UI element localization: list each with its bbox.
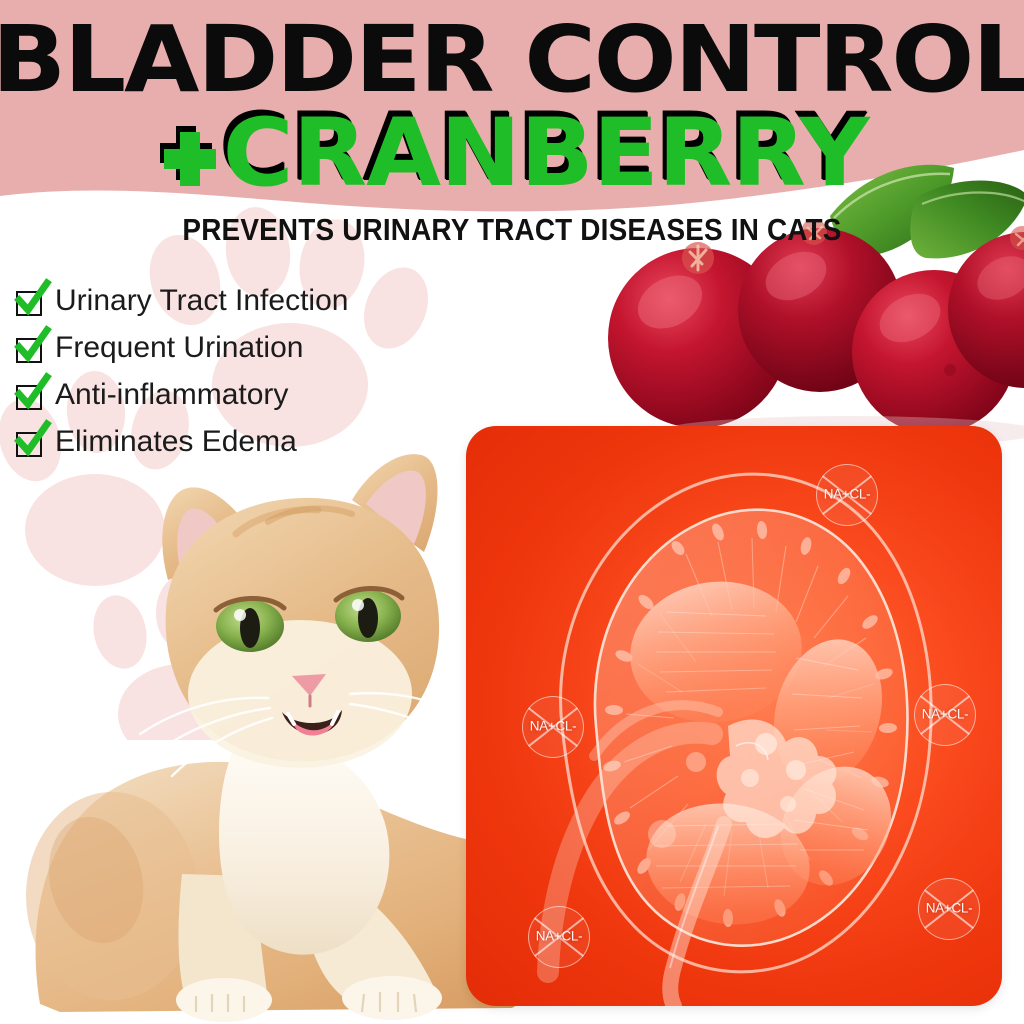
benefit-label: Anti-inflammatory bbox=[55, 378, 288, 412]
list-item: Urinary Tract Infection bbox=[14, 278, 434, 324]
checkmark-icon bbox=[14, 380, 44, 410]
benefit-label: Eliminates Edema bbox=[55, 425, 297, 459]
na-cl-badge-label: NA+CL- bbox=[523, 719, 583, 734]
na-cl-badge-label: NA+CL- bbox=[529, 929, 589, 944]
cranberry-cluster-icon bbox=[598, 120, 1024, 450]
kidney-cross-section-illustration: NA+CL- NA+CL- NA+CL- NA+CL- NA+CL- bbox=[466, 426, 1002, 1006]
checkmark-icon bbox=[14, 427, 44, 457]
na-cl-badge: NA+CL- bbox=[914, 684, 976, 746]
poster-root: BLADDER CONTROL CRANBERRY PREVENTS URINA… bbox=[0, 0, 1024, 1024]
list-item: Frequent Urination bbox=[14, 325, 434, 371]
na-cl-badge-label: NA+CL- bbox=[817, 487, 877, 502]
checkmark-icon bbox=[14, 286, 44, 316]
list-item: Anti-inflammatory bbox=[14, 372, 434, 418]
benefit-label: Frequent Urination bbox=[55, 331, 303, 365]
benefits-checklist: Urinary Tract Infection Frequent Urinati… bbox=[14, 278, 434, 466]
benefit-label: Urinary Tract Infection bbox=[55, 284, 348, 318]
na-cl-badge: NA+CL- bbox=[918, 878, 980, 940]
list-item: Eliminates Edema bbox=[14, 419, 434, 465]
na-cl-badge: NA+CL- bbox=[816, 464, 878, 526]
na-cl-badge-label: NA+CL- bbox=[915, 707, 975, 722]
na-cl-badge-label: NA+CL- bbox=[919, 901, 979, 916]
na-cl-badge: NA+CL- bbox=[522, 696, 584, 758]
na-cl-badge: NA+CL- bbox=[528, 906, 590, 968]
checkmark-icon bbox=[14, 333, 44, 363]
